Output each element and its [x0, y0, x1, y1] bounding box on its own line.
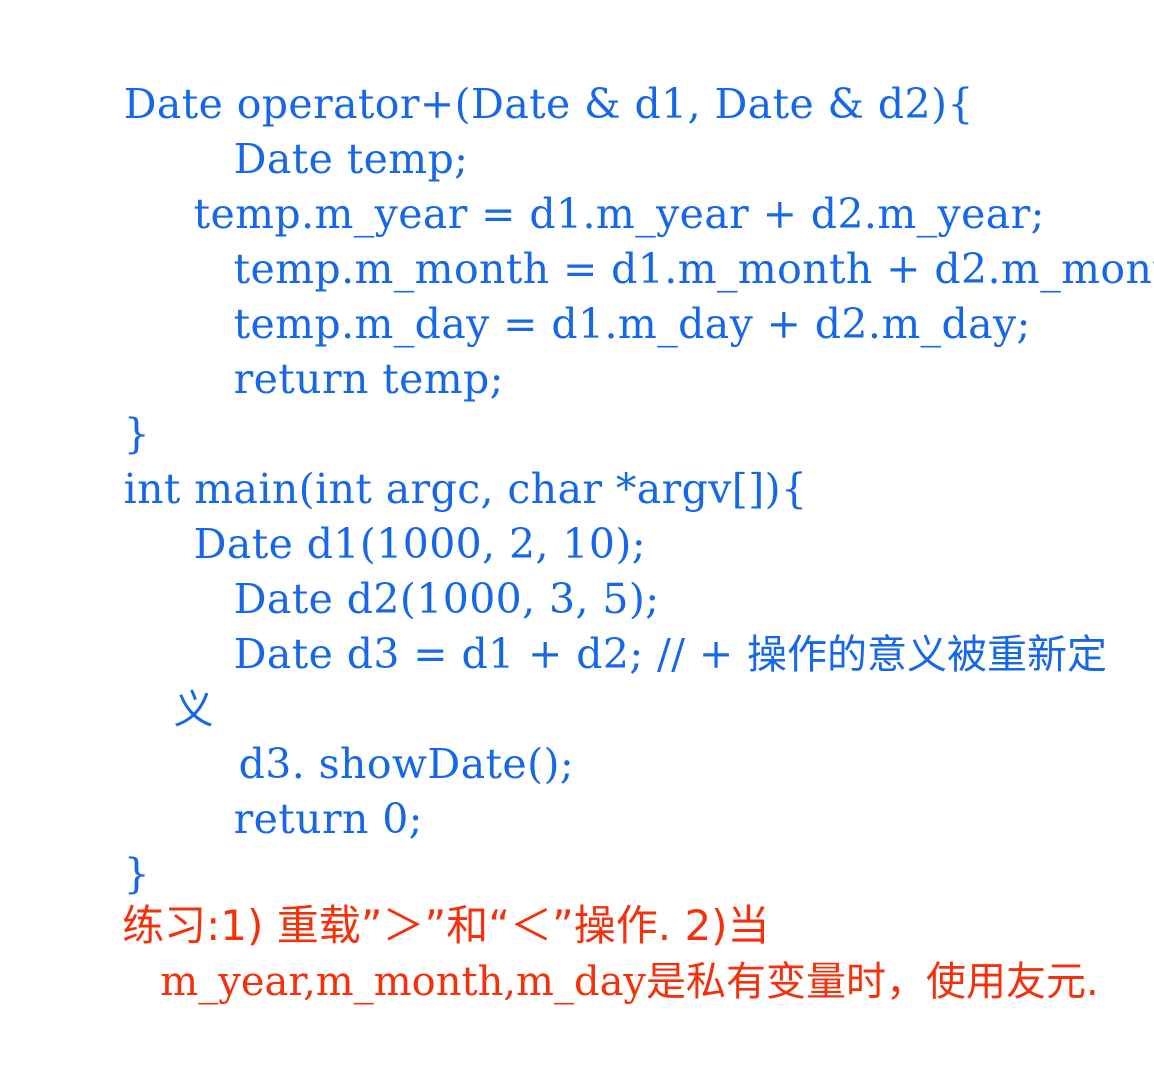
code-line: temp.m_year = d1.m_year + d2.m_year; — [0, 132, 1154, 187]
exercise-line-2-cjk: 是私有变量时，使用友元. — [646, 959, 1099, 1005]
code-line: temp.m_day = d1.m_day + d2.m_day; — [0, 242, 1154, 297]
code-line: Date d2(1000, 3, 5); — [0, 517, 1154, 572]
exercise-note: 练习:1) 重载”＞”和“＜”操作. 2)当 m_year,m_month,m_… — [0, 842, 1154, 954]
code-line: Date d1(1000, 2, 10); — [0, 462, 1154, 517]
code-line-closing-brace: } — [0, 352, 1154, 407]
exercise-line-2-code: m_year,m_month,m_day — [160, 959, 646, 1005]
code-line: return temp; — [0, 297, 1154, 352]
exercise-line-2: m_year,m_month,m_day是私有变量时，使用友元. — [0, 898, 1154, 954]
code-comment-wrap: 义 — [0, 627, 1154, 682]
code-line-with-comment: Date d3 = d1 + d2; // + 操作的意义被重新定 — [0, 572, 1154, 627]
code-line: Date temp; — [0, 77, 1154, 132]
slide-canvas: Date operator+(Date & d1, Date & d2){ Da… — [0, 0, 1154, 976]
code-line: return 0; — [0, 737, 1154, 792]
code-line: temp.m_month = d1.m_month + d2.m_month; — [0, 187, 1154, 242]
code-listing: Date operator+(Date & d1, Date & d2){ Da… — [0, 22, 1154, 847]
code-line: d3. showDate(); — [0, 682, 1154, 737]
code-line-closing-brace: } — [0, 792, 1154, 847]
code-line: Date operator+(Date & d1, Date & d2){ — [0, 22, 1154, 77]
code-line-main-signature: int main(int argc, char *argv[]){ — [0, 407, 1154, 462]
exercise-line-1: 练习:1) 重载”＞”和“＜”操作. 2)当 — [0, 842, 1154, 898]
